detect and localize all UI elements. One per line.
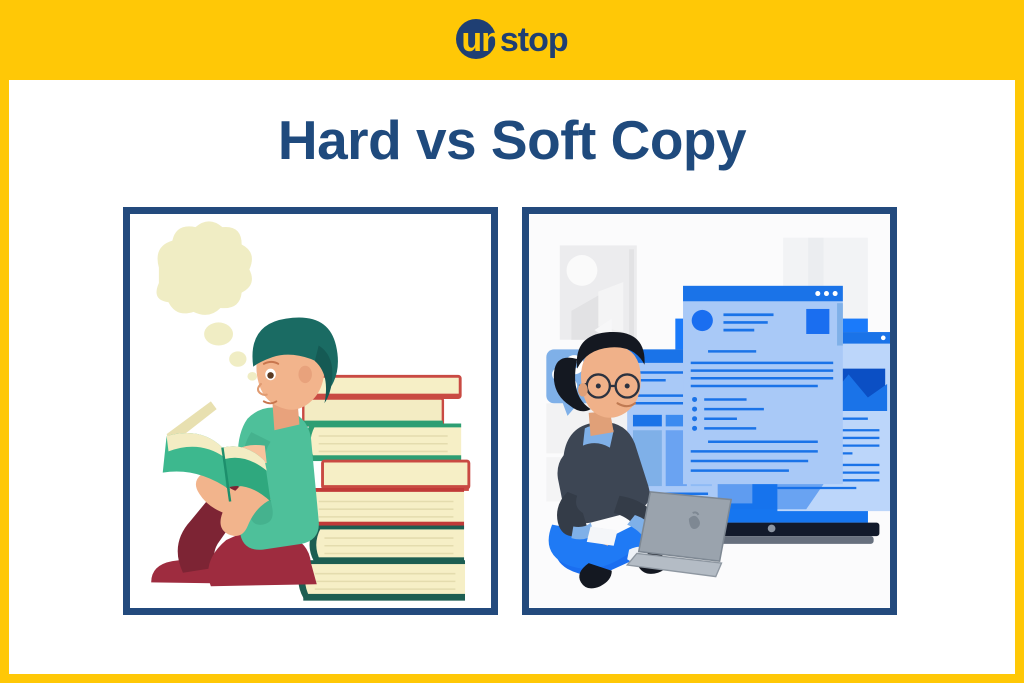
book-stack-item: [310, 526, 465, 564]
page-root: un stop Hard vs Soft Copy: [0, 0, 1024, 683]
book-stack-item: [305, 424, 461, 462]
book-stack-item: [323, 461, 469, 491]
hard-copy-illustration: [130, 214, 491, 608]
logo-text-un: un: [456, 17, 501, 63]
page-title: Hard vs Soft Copy: [9, 108, 1015, 172]
panel-hard-copy: [123, 207, 498, 615]
book-stack-item: [303, 488, 464, 528]
book-stack-item: [303, 398, 443, 426]
brand-banner: un stop: [0, 0, 1024, 80]
book-stack: [298, 376, 468, 600]
digital-documents-illustration-svg: [529, 214, 890, 608]
panel-soft-copy: [522, 207, 897, 615]
unstop-logo[interactable]: un stop: [456, 17, 567, 63]
reading-illustration-svg: [130, 214, 491, 608]
book-stack-item: [298, 560, 465, 600]
document-window-main: [683, 286, 843, 484]
content-canvas: Hard vs Soft Copy: [9, 80, 1015, 674]
logo-text-stop: stop: [500, 17, 568, 63]
soft-copy-illustration: [529, 214, 890, 608]
background-picture-frame-icon: [560, 245, 637, 341]
book-stack-item: [316, 376, 460, 398]
